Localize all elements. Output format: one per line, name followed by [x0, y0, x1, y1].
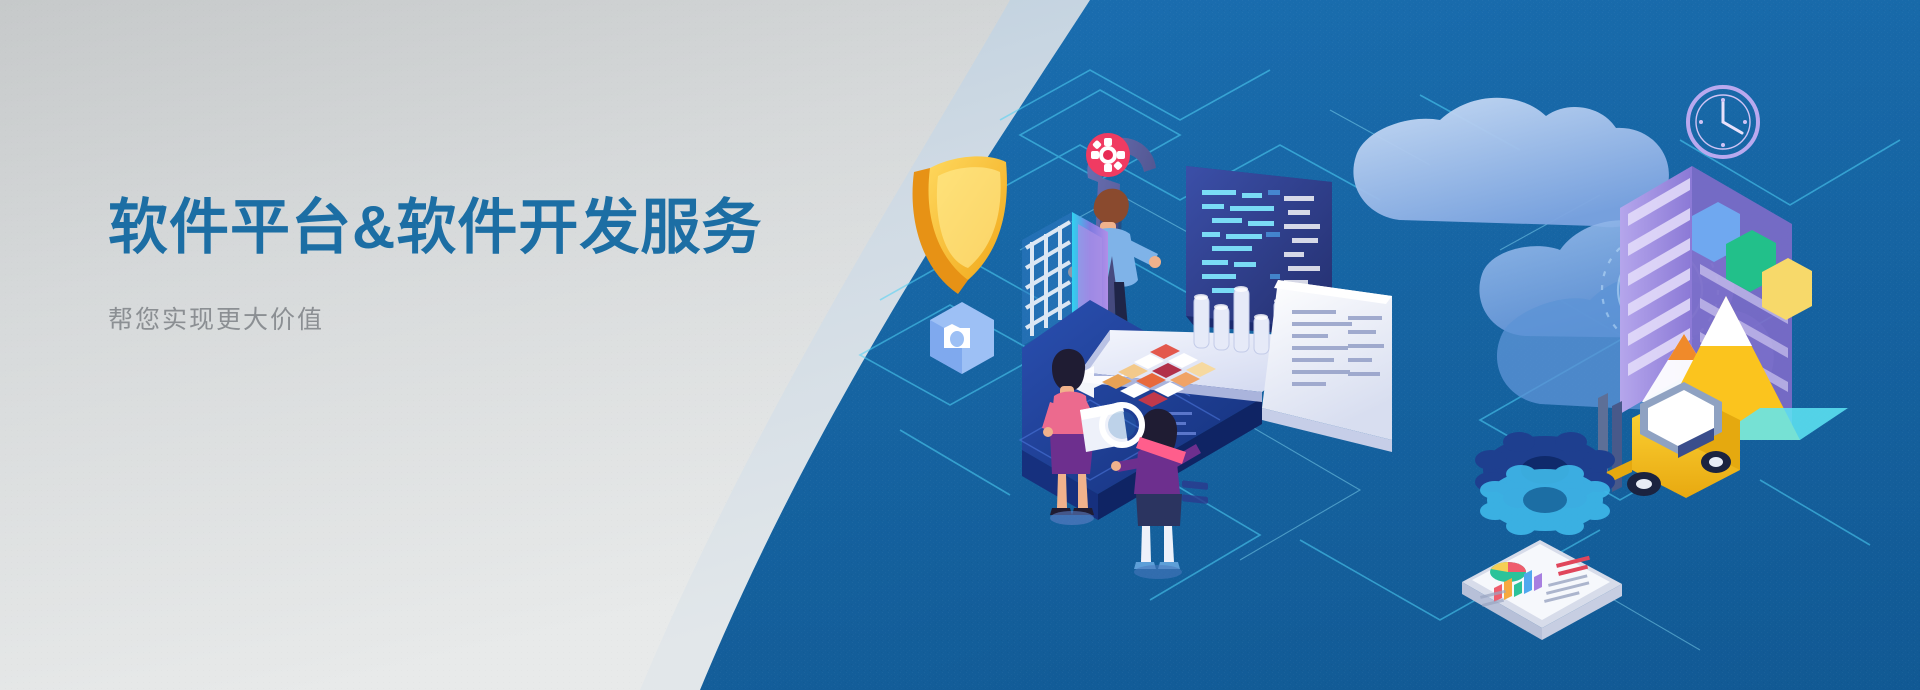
pie-chart	[1490, 562, 1526, 582]
paper-printout	[1262, 280, 1392, 452]
isometric-illustration	[0, 0, 1920, 690]
page-title: 软件平台&软件开发服务	[108, 196, 868, 261]
hero-copy: 软件平台&软件开发服务 帮您实现更大价值	[108, 196, 868, 335]
gear-badge-icon	[1086, 133, 1130, 177]
shield-icon	[913, 156, 1007, 294]
clock-icon	[1688, 87, 1758, 157]
news-card	[1462, 540, 1622, 640]
hero-banner: 软件平台&软件开发服务 帮您实现更大价值	[0, 0, 1920, 690]
camera-icon	[930, 302, 994, 374]
page-subtitle: 帮您实现更大价值	[108, 305, 868, 335]
gear-wheels	[1475, 432, 1615, 535]
